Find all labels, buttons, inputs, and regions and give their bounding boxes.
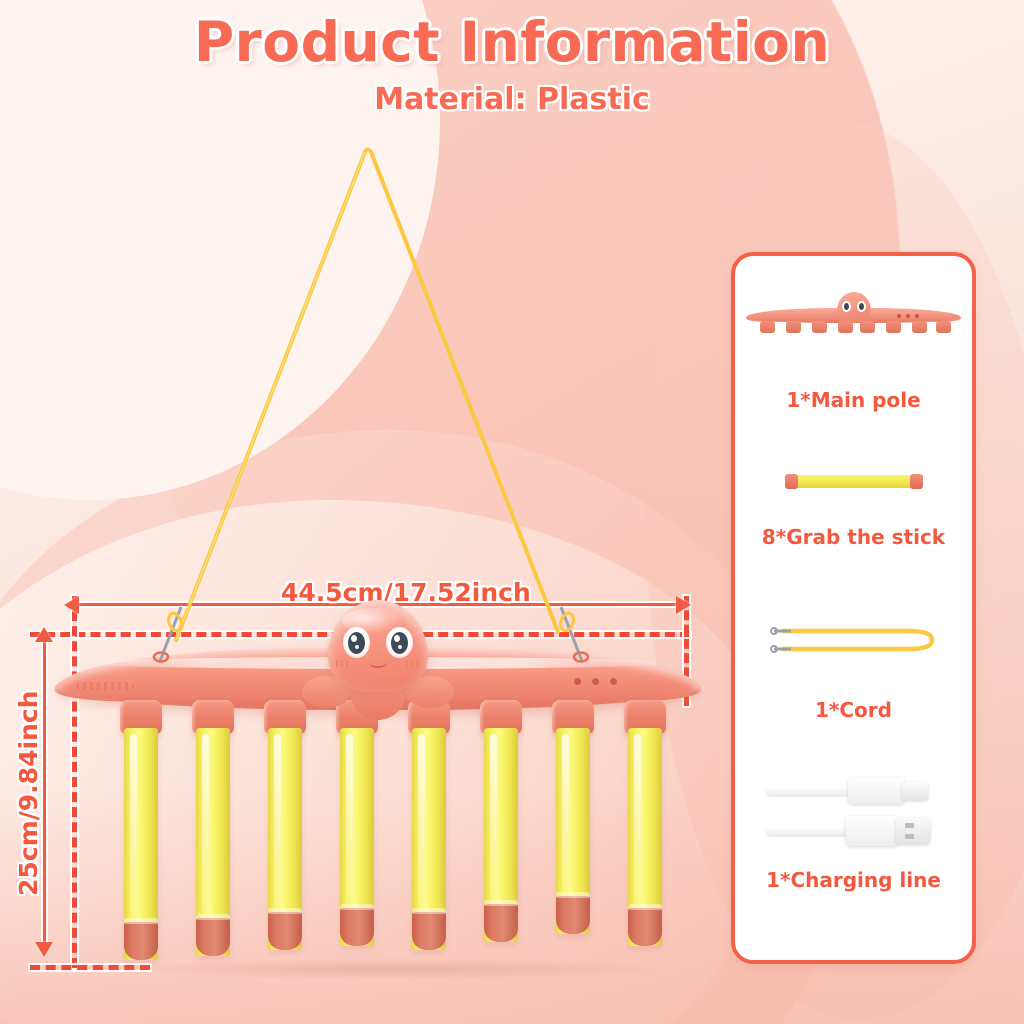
cord-clip-right [548, 605, 592, 665]
grab-stick [628, 728, 662, 946]
cord-icon [769, 624, 939, 656]
main-pole-indicator-dots [574, 678, 620, 686]
height-dimension-label: 25cm/9.84inch [14, 691, 43, 896]
charging-line-icon [764, 776, 944, 850]
header: Product Information Material: Plastic [0, 14, 1024, 117]
height-arrow-head-bottom [35, 942, 53, 957]
part-item-charging-line: 1*Charging line [735, 776, 972, 892]
octopus-head [328, 600, 428, 692]
part-caption-main-pole: 1*Main pole [735, 388, 972, 412]
part-item-cord: 1*Cord [735, 624, 972, 722]
page-subtitle: Material: Plastic [0, 82, 1024, 117]
part-item-main-pole: 1*Main pole [735, 290, 972, 412]
octopus-eye-right [386, 627, 413, 658]
main-pole-icon [746, 290, 961, 338]
product-information-infographic: Product Information Material: Plastic 44… [0, 0, 1024, 1024]
grab-stick [124, 728, 158, 960]
parts-list-panel: 1*Main pole 8*Grab the stick 1*Cord [731, 252, 976, 964]
grab-stick [340, 728, 374, 946]
part-caption-charging-line: 1*Charging line [735, 868, 972, 892]
hanging-cord [58, 140, 698, 660]
octopus-blush-right [406, 660, 420, 667]
octopus-eye-left [343, 627, 370, 658]
grab-stick-icon [785, 474, 923, 489]
grab-stick [412, 728, 446, 950]
grab-stick [196, 728, 230, 956]
octopus-mouth [369, 658, 387, 668]
height-arrow-line [43, 640, 46, 950]
octopus-blush-left [336, 660, 350, 667]
part-caption-cord: 1*Cord [735, 698, 972, 722]
main-pole-vent [76, 682, 134, 690]
page-title: Product Information [0, 14, 1024, 72]
cord-clip-left [150, 605, 194, 665]
part-caption-grab-stick: 8*Grab the stick [735, 525, 972, 549]
part-item-grab-stick: 8*Grab the stick [735, 474, 972, 549]
grab-stick [484, 728, 518, 942]
grab-stick [268, 728, 302, 950]
grab-stick [556, 728, 590, 934]
height-arrow-head-top [35, 627, 53, 642]
